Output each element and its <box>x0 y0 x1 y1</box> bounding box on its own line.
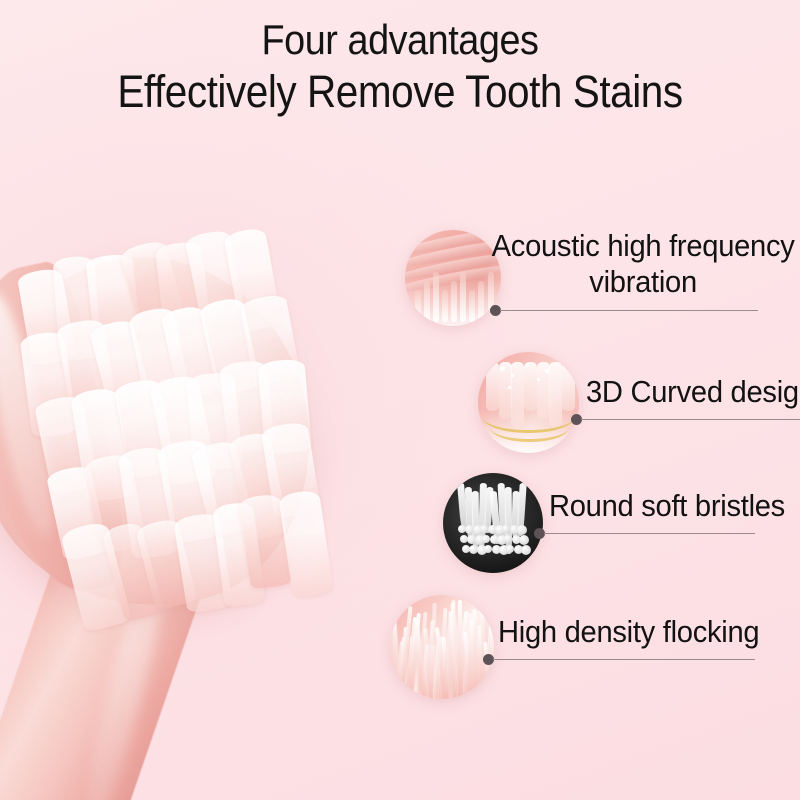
thumb-high-density-flocking-icon <box>390 595 494 699</box>
thumb-round-soft-bristles-icon <box>443 473 543 573</box>
connector-line-2 <box>581 419 800 420</box>
thumb-bristle-strand <box>433 272 439 322</box>
thumb-bristle-strand <box>469 290 475 323</box>
feature-label-3: Round soft bristles <box>549 488 785 524</box>
headline-line-2: Effectively Remove Tooth Stains <box>40 67 760 117</box>
thumb-rounded-tip <box>519 535 529 545</box>
curve-highlight-lower <box>490 413 569 442</box>
thumb-sparkle <box>545 369 549 373</box>
connector-line-1 <box>500 310 758 311</box>
thumb-bristle-column <box>562 362 575 410</box>
thumb-rounded-tip <box>482 535 490 543</box>
thumb-3d-curved-design-icon <box>478 352 579 453</box>
connector-line-4 <box>493 659 755 660</box>
thumb-sparkle <box>537 378 540 381</box>
headline-block: Four advantages Effectively Remove Tooth… <box>0 16 800 117</box>
headline-line-1: Four advantages <box>40 16 760 63</box>
infographic-canvas: Four advantages Effectively Remove Tooth… <box>0 0 800 800</box>
thumb-bristle-strand <box>424 281 430 322</box>
feature-label-2: 3D Curved design <box>586 374 800 410</box>
feature-label-4: High density flocking <box>498 614 759 650</box>
thumb-rounded-tip <box>521 545 531 555</box>
thumb-bristle-strand <box>451 281 457 322</box>
thumb-bristle-strand <box>442 290 448 323</box>
bristle-soft-haze <box>9 216 380 644</box>
thumb-bristle-strand <box>460 272 466 322</box>
thumb-bristle-strand <box>478 281 484 322</box>
feature-label-1: Acoustic high frequency vibration <box>488 228 798 301</box>
thumb-acoustic-vibration-icon <box>405 230 501 326</box>
thumb-rounded-tip <box>517 525 527 535</box>
thumb-bristle-strand <box>415 290 421 323</box>
connector-line-3 <box>544 533 755 534</box>
thumb-rounded-tip <box>484 545 492 553</box>
